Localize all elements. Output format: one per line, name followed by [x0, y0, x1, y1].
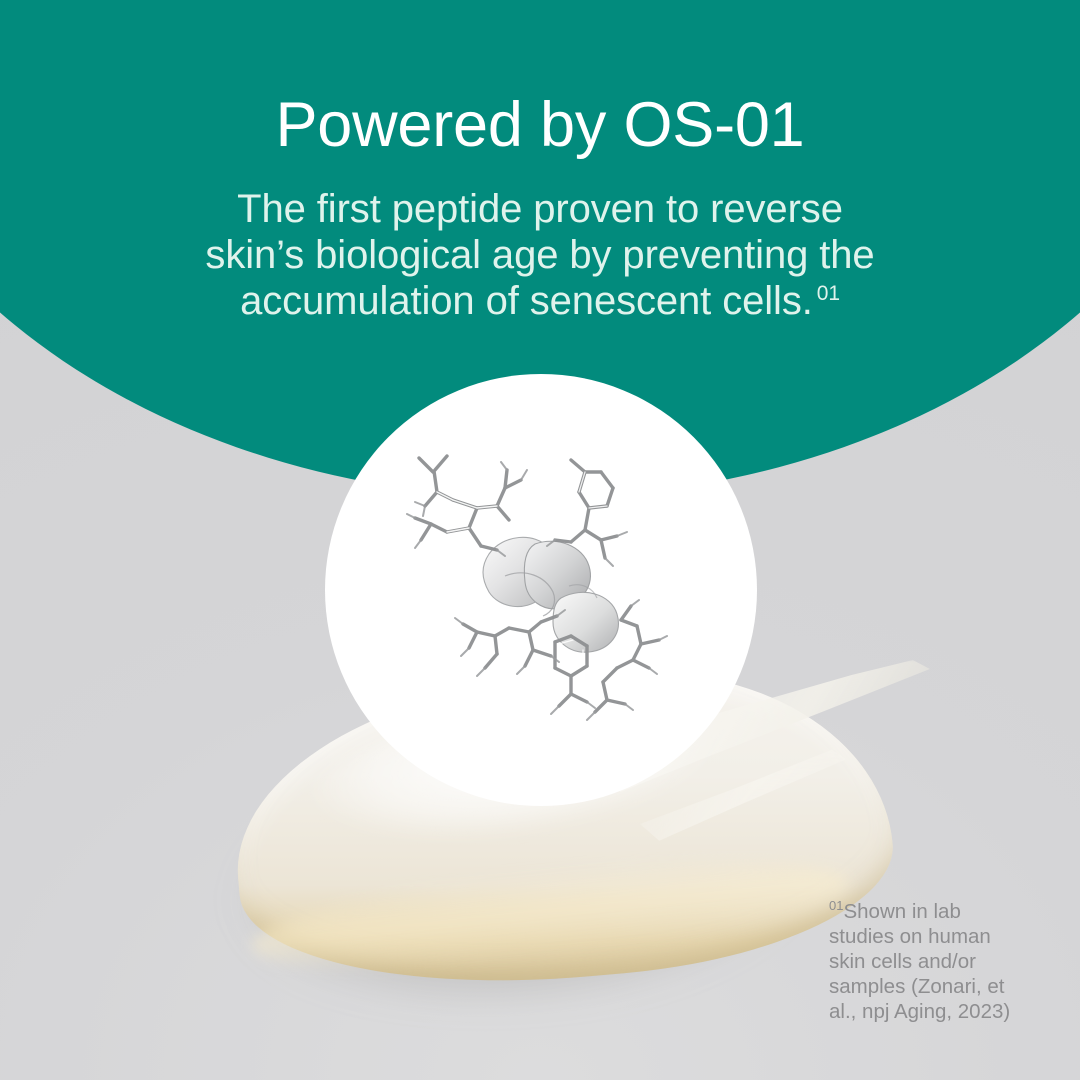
product-marketing-graphic: Powered by OS-01 The first peptide prove… [0, 0, 1080, 1080]
footnote: 01Shown in lab studies on human skin cel… [829, 899, 1029, 1024]
subtitle-line-3: accumulation of senescent cells. [240, 279, 813, 323]
footnote-text: Shown in lab studies on human skin cells… [829, 900, 1010, 1023]
os-01-peptide-molecule-icon [385, 436, 695, 736]
molecule-badge [325, 374, 757, 806]
footnote-marker: 01 [829, 898, 843, 913]
subtitle-line-2: skin’s biological age by preventing the [205, 233, 874, 277]
subtitle: The first peptide proven to reverse skin… [140, 186, 940, 324]
subtitle-footnote-marker: 01 [817, 282, 840, 305]
page-title: Powered by OS-01 [0, 94, 1080, 157]
subtitle-line-1: The first peptide proven to reverse [237, 187, 843, 231]
